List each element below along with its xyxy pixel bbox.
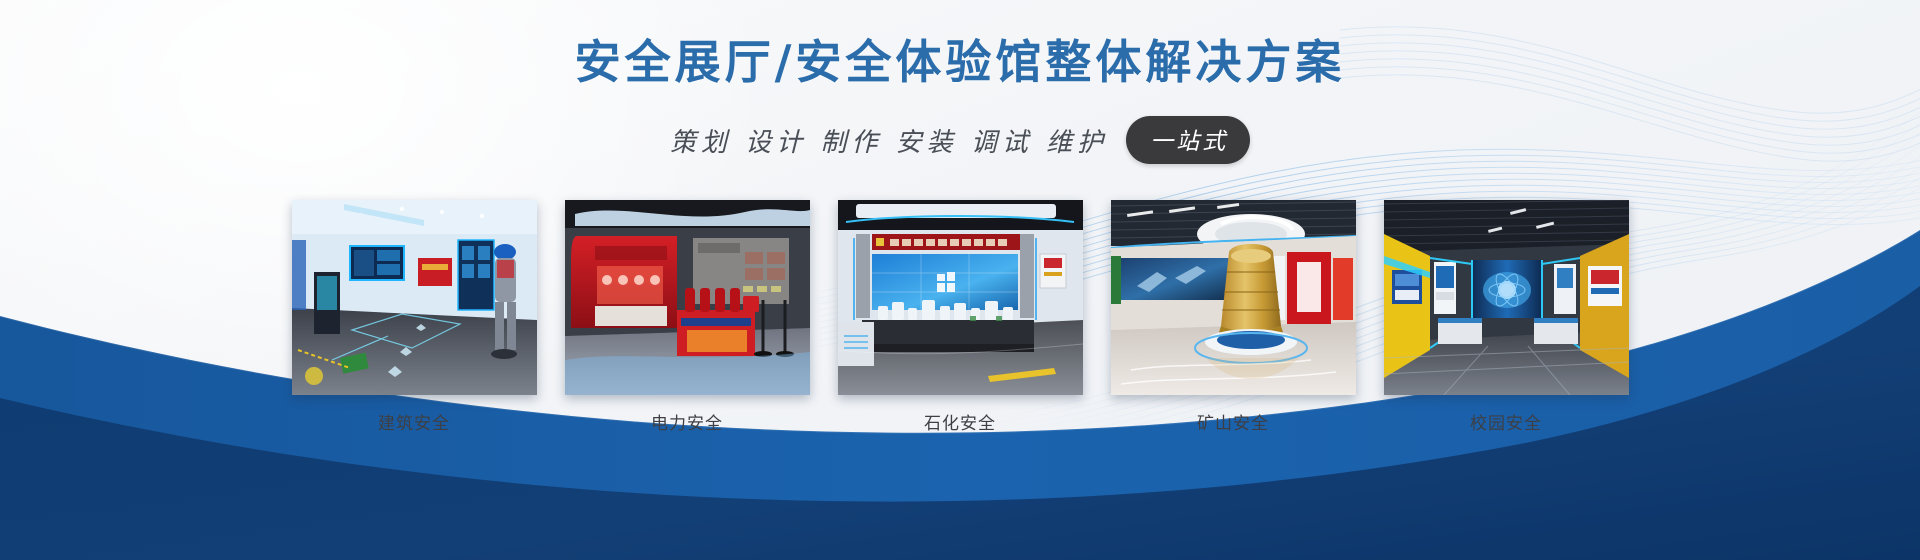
exhibition-thumbnail-2[interactable] [565,200,810,395]
card-label: 电力安全 [651,409,723,434]
list-item[interactable]: 矿山安全 [1111,200,1356,434]
exhibition-card-list: 建筑安全 [0,200,1920,434]
one-stop-badge: 一站式 [1126,116,1250,164]
safety-exhibition-banner: 安全展厅/安全体验馆整体解决方案 策划 设计 制作 安装 调试 维护 一站式 [0,0,1920,560]
exhibition-thumbnail-1[interactable] [292,200,537,395]
card-label: 校园安全 [1470,409,1542,434]
exhibition-thumbnail-3[interactable] [838,200,1083,395]
exhibition-thumbnail-4[interactable] [1111,200,1356,395]
list-item[interactable]: 电力安全 [565,200,810,434]
card-label: 建筑安全 [378,409,450,434]
banner-headings: 安全展厅/安全体验馆整体解决方案 策划 设计 制作 安装 调试 维护 一站式 [0,0,1920,164]
card-label: 石化安全 [924,409,996,434]
list-item[interactable]: 石化安全 [838,200,1083,434]
list-item[interactable]: 建筑安全 [292,200,537,434]
card-label: 矿山安全 [1197,409,1269,434]
page-title: 安全展厅/安全体验馆整体解决方案 [0,0,1920,92]
subtitle-row: 策划 设计 制作 安装 调试 维护 一站式 [0,116,1920,164]
service-steps-text: 策划 设计 制作 安装 调试 维护 [670,122,1108,159]
list-item[interactable]: 校园安全 [1384,200,1629,434]
exhibition-thumbnail-5[interactable] [1384,200,1629,395]
